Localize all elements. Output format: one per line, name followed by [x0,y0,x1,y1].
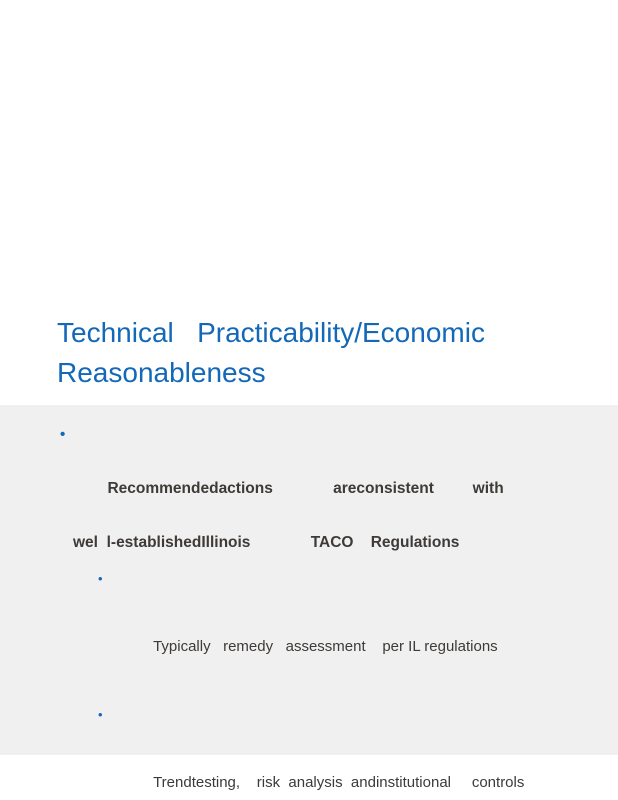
bullet-list: • Recommendedactions areconsistent with … [0,405,618,800]
slide-blank-upper-area [0,0,618,305]
list-item: • Typically remedy assessment per IL reg… [0,562,618,698]
list-item-label: Trendtesting, risk analysis andinstituti… [153,774,524,791]
slide-title: Technical Practicability/Economic Reason… [57,313,587,393]
list-item-continuation: wel l-establishedIllinois TACO Regulatio… [0,529,618,556]
bullet-marker-icon: • [98,698,103,732]
list-item-label: Typically remedy assessment per IL regul… [153,638,498,655]
slide-title-line-1: Technical Practicability/Economic [57,313,587,353]
list-item: • Trendtesting, risk analysis andinstitu… [0,698,618,800]
bullet-marker-icon: • [98,562,103,596]
slide-content-band: • Recommendedactions areconsistent with … [0,405,618,755]
list-item-label: Recommendedactions areconsistent with [107,480,503,497]
list-item: • Recommendedactions areconsistent with [0,421,618,529]
slide-title-line-2: Reasonableness [57,353,587,393]
slide-canvas: Technical Practicability/Economic Reason… [0,0,618,800]
bullet-marker-icon: • [60,421,65,448]
